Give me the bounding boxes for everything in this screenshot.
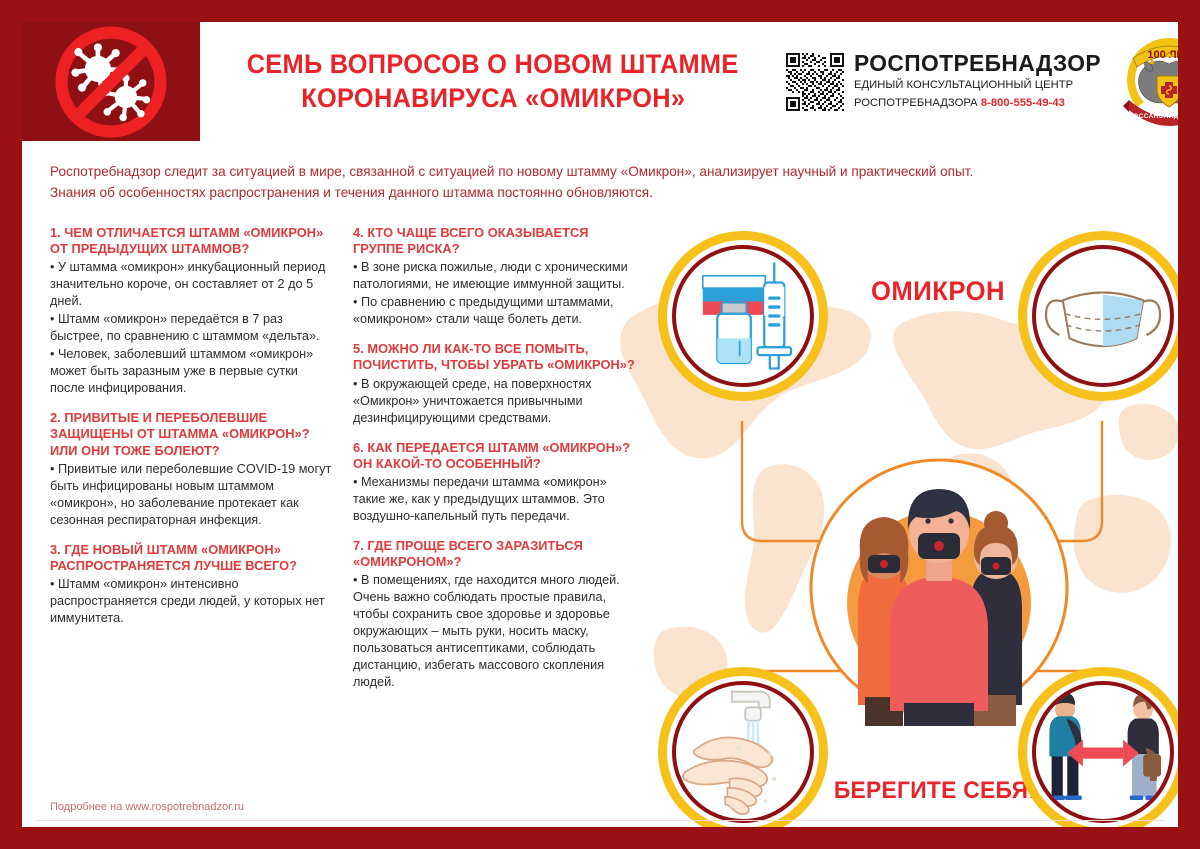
answer-bullet: • У штамма «омикрон» инкубационный перио… <box>50 259 335 310</box>
handwashing-circle-inner <box>672 681 814 823</box>
question-3: 3. ГДЕ НОВЫЙ ШТАММ «ОМИКРОН» РАСПРОСТРАН… <box>50 542 335 574</box>
medical-mask-icon <box>1036 249 1170 383</box>
answer-bullet: • В помещениях, где находится много люде… <box>353 572 638 691</box>
intro-line-2: Знания об особенностях распространения и… <box>50 182 1150 203</box>
answer-bullet: • В окружающей среде, на поверхностях «О… <box>353 376 638 427</box>
distance-circle <box>1018 667 1178 827</box>
vaccine-vial-syringe-icon <box>676 249 810 383</box>
question-4: 4. КТО ЧАЩЕ ВСЕГО ОКАЗЫВАЕТСЯ ГРУППЕ РИС… <box>353 225 638 257</box>
question-1: 1. ЧЕМ ОТЛИЧАЕТСЯ ШТАММ «ОМИКРОН» ОТ ПРЕ… <box>50 225 335 257</box>
answer-2: • Привитые или переболевшие COVID-19 мог… <box>50 461 335 529</box>
distance-circle-inner <box>1032 681 1174 823</box>
emblem-anniversary-text: 100 ЛЕТ <box>1147 49 1178 61</box>
label-beregite-sebya: БЕРЕГИТЕ СЕБЯ! <box>816 777 1054 805</box>
answer-bullet: • В зоне риска пожилые, люди с хроническ… <box>353 259 638 293</box>
label-omikron: ОМИКРОН <box>843 276 1033 307</box>
hotline-phone[interactable]: 8-800-555-49-43 <box>981 97 1065 109</box>
qa-block-5: 5. МОЖНО ЛИ КАК-ТО ВСЕ ПОМЫТЬ, ПОЧИСТИТЬ… <box>353 341 638 426</box>
answer-4: • В зоне риска пожилые, люди с хроническ… <box>353 259 638 328</box>
footer-divider <box>36 820 1164 821</box>
poster-body: Роспотребнадзор следит за ситуацией в ми… <box>22 141 1178 827</box>
question-5: 5. МОЖНО ЛИ КАК-ТО ВСЕ ПОМЫТЬ, ПОЧИСТИТЬ… <box>353 341 638 373</box>
qa-block-6: 6. КАК ПЕРЕДАЕТСЯ ШТАММ «ОМИКРОН»? ОН КА… <box>353 440 638 525</box>
mask-circle <box>1018 231 1178 401</box>
handwashing-circle <box>658 667 828 827</box>
people-in-masks-icon <box>802 451 1077 726</box>
org-subtitle-text: РОСПОТРЕБНАДЗОРА <box>854 97 978 109</box>
poster-header: СЕМЬ ВОПРОСОВ О НОВОМ ШТАММЕ КОРОНАВИРУС… <box>22 22 1178 141</box>
answer-1: • У штамма «омикрон» инкубационный перио… <box>50 259 335 397</box>
answer-bullet: • Привитые или переболевшие COVID-19 мог… <box>50 461 335 529</box>
emblem-ribbon-text: ГОССАНЭПИДСЛУЖБА <box>1129 113 1178 120</box>
org-subtitle-line-2: РОСПОТРЕБНАДЗОРА 8-800-555-49-43 <box>854 96 1109 111</box>
poster-sheet: СЕМЬ ВОПРОСОВ О НОВОМ ШТАММЕ КОРОНАВИРУС… <box>22 22 1178 827</box>
header-org-block: РОСПОТРЕБНАДЗОР ЕДИНЫЙ КОНСУЛЬТАЦИОННЫЙ … <box>786 22 1178 141</box>
no-virus-icon <box>55 26 167 138</box>
rospotrebnadzor-emblem-icon: 100 ЛЕТ <box>1119 30 1178 134</box>
intro-paragraph: Роспотребнадзор следит за ситуацией в ми… <box>50 161 1150 203</box>
qa-column-right: 4. КТО ЧАЩЕ ВСЕГО ОКАЗЫВАЕТСЯ ГРУППЕ РИС… <box>353 225 638 704</box>
answer-bullet: • Человек, заболевший штаммом «омикрон» … <box>50 346 335 397</box>
vaccine-circle-inner <box>672 245 814 387</box>
answer-bullet: • Механизмы передачи штамма «омикрон» та… <box>353 474 638 525</box>
org-name: РОСПОТРЕБНАДЗОР <box>854 52 1101 76</box>
answer-6: • Механизмы передачи штамма «омикрон» та… <box>353 474 638 525</box>
title-line-1: СЕМЬ ВОПРОСОВ О НОВОМ ШТАММЕ <box>247 48 739 81</box>
org-text-block: РОСПОТРЕБНАДЗОР ЕДИНЫЙ КОНСУЛЬТАЦИОННЫЙ … <box>854 52 1109 111</box>
answer-7: • В помещениях, где находится много люде… <box>353 572 638 691</box>
illustration-area: ОМИКРОН БЕРЕГИТЕ СЕБЯ! <box>642 221 1178 827</box>
qa-block-3: 3. ГДЕ НОВЫЙ ШТАММ «ОМИКРОН» РАСПРОСТРАН… <box>50 542 335 627</box>
vaccine-circle <box>658 231 828 401</box>
social-distance-icon <box>1036 685 1170 819</box>
answer-3: • Штамм «омикрон» интенсивно распростран… <box>50 576 335 627</box>
poster-root: СЕМЬ ВОПРОСОВ О НОВОМ ШТАММЕ КОРОНАВИРУС… <box>0 0 1200 849</box>
answer-bullet: • По сравнению с предыдущими штаммами, «… <box>353 294 638 328</box>
footer-link[interactable]: Подробнее на www.rospotrebnadzor.ru <box>50 801 244 813</box>
title-line-2: КОРОНАВИРУСА «ОМИКРОН» <box>301 82 685 115</box>
qa-columns: 1. ЧЕМ ОТЛИЧАЕТСЯ ШТАММ «ОМИКРОН» ОТ ПРЕ… <box>50 225 650 704</box>
intro-line-1: Роспотребнадзор следит за ситуацией в ми… <box>50 161 1150 182</box>
poster-title: СЕМЬ ВОПРОСОВ О НОВОМ ШТАММЕ КОРОНАВИРУС… <box>200 22 786 141</box>
question-2: 2. ПРИВИТЫЕ И ПЕРЕБОЛЕВШИЕ ЗАЩИЩЕНЫ ОТ Ш… <box>50 410 335 458</box>
answer-bullet: • Штамм «омикрон» интенсивно распростран… <box>50 576 335 627</box>
qa-block-7: 7. ГДЕ ПРОЩЕ ВСЕГО ЗАРАЗИТЬСЯ «ОМИКРОНОМ… <box>353 538 638 691</box>
qa-block-2: 2. ПРИВИТЫЕ И ПЕРЕБОЛЕВШИЕ ЗАЩИЩЕНЫ ОТ Ш… <box>50 410 335 528</box>
qa-block-1: 1. ЧЕМ ОТЛИЧАЕТСЯ ШТАММ «ОМИКРОН» ОТ ПРЕ… <box>50 225 335 397</box>
mask-circle-inner <box>1032 245 1174 387</box>
no-virus-badge <box>22 22 200 141</box>
qr-code-icon[interactable] <box>786 53 844 111</box>
question-6: 6. КАК ПЕРЕДАЕТСЯ ШТАММ «ОМИКРОН»? ОН КА… <box>353 440 638 472</box>
answer-bullet: • Штамм «омикрон» передаётся в 7 раз быс… <box>50 311 335 345</box>
qa-column-left: 1. ЧЕМ ОТЛИЧАЕТСЯ ШТАММ «ОМИКРОН» ОТ ПРЕ… <box>50 225 335 704</box>
org-subtitle-line-1: ЕДИНЫЙ КОНСУЛЬТАЦИОННЫЙ ЦЕНТР <box>854 78 1109 93</box>
answer-5: • В окружающей среде, на поверхностях «О… <box>353 376 638 427</box>
washing-hands-faucet-icon <box>676 685 810 819</box>
qa-block-4: 4. КТО ЧАЩЕ ВСЕГО ОКАЗЫВАЕТСЯ ГРУППЕ РИС… <box>353 225 638 328</box>
question-7: 7. ГДЕ ПРОЩЕ ВСЕГО ЗАРАЗИТЬСЯ «ОМИКРОНОМ… <box>353 538 638 570</box>
